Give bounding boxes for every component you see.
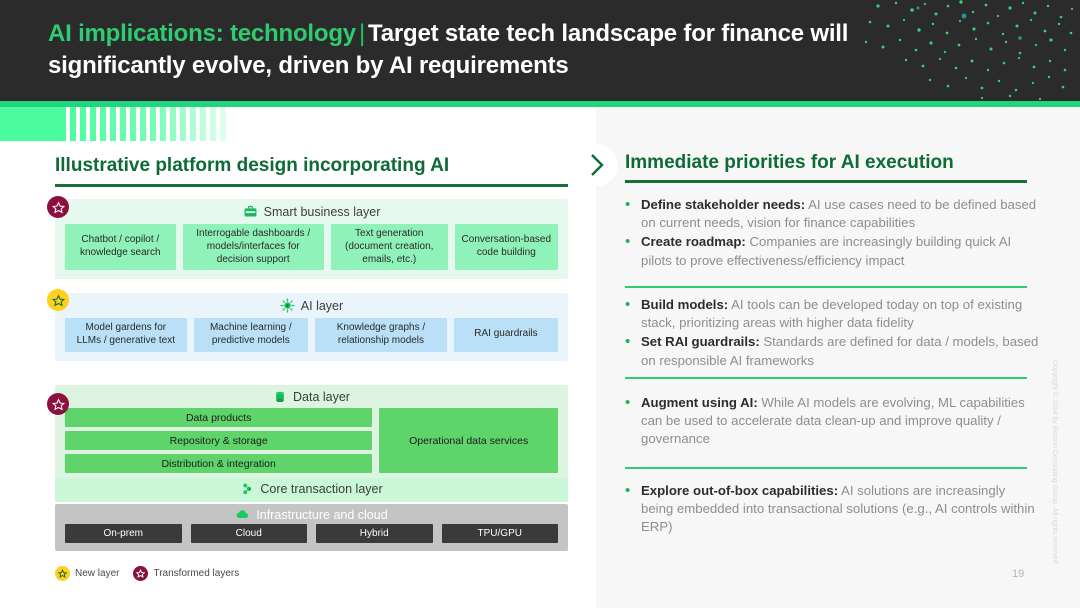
bullet-text: Augment using AI: While AI models are ev… bbox=[641, 394, 1040, 449]
badge-new-ai-layer bbox=[47, 289, 69, 311]
cell-model-gardens[interactable]: Model gardens forLLMs / generative text bbox=[65, 318, 187, 352]
bullet-dot-icon: • bbox=[625, 233, 632, 269]
page-title: AI implications: technology|Target state… bbox=[48, 18, 1008, 81]
bullet-text: Define stakeholder needs: AI use cases n… bbox=[641, 196, 1040, 232]
layer-title-text: Core transaction layer bbox=[260, 482, 382, 496]
cell-knowledge-graphs[interactable]: Knowledge graphs /relationship models bbox=[315, 318, 447, 352]
bullet-dot-icon: • bbox=[625, 196, 632, 232]
legend-label-transformed-layers: Transformed layers bbox=[153, 568, 239, 579]
data-rows-group: Data products Repository & storage Distr… bbox=[65, 408, 372, 473]
bullet-text: Explore out-of-box capabilities: AI solu… bbox=[641, 482, 1040, 537]
left-panel: Illustrative platform design incorporati… bbox=[0, 141, 596, 608]
chevron-circle bbox=[576, 144, 618, 186]
bullet-dot-icon: • bbox=[625, 394, 632, 449]
left-heading-rule bbox=[55, 184, 568, 187]
title-divider: | bbox=[356, 20, 368, 47]
page-number: 19 bbox=[1012, 568, 1024, 580]
title-line-2: significantly evolve, driven by AI requi… bbox=[48, 52, 569, 79]
infra-cells-group: On-prem Cloud Hybrid TPU/GPU bbox=[55, 522, 568, 551]
bullet-group-3: • Augment using AI: While AI models are … bbox=[625, 394, 1040, 450]
legend: New layer Transformed layers bbox=[55, 566, 239, 581]
slide-header: AI implications: technology|Target state… bbox=[0, 0, 1080, 101]
layer-title-text: AI layer bbox=[301, 299, 343, 313]
infra-cell-on-prem[interactable]: On-prem bbox=[65, 524, 182, 543]
badge-transformed-data-layer bbox=[47, 393, 69, 415]
bullet-define-stakeholder-needs: • Define stakeholder needs: AI use cases… bbox=[625, 196, 1040, 232]
cloud-icon bbox=[235, 507, 250, 522]
network-nodes-icon bbox=[240, 482, 254, 496]
bullet-text: Set RAI guardrails: Standards are define… bbox=[641, 333, 1040, 369]
bullet-text: Build models: AI tools can be developed … bbox=[641, 296, 1040, 332]
left-panel-heading: Illustrative platform design incorporati… bbox=[55, 155, 449, 177]
bullet-augment-using-ai: • Augment using AI: While AI models are … bbox=[625, 394, 1040, 449]
bullet-group-1: • Define stakeholder needs: AI use cases… bbox=[625, 196, 1040, 271]
bullet-text: Create roadmap: Companies are increasing… bbox=[641, 233, 1040, 269]
bullet-explore-out-of-box: • Explore out-of-box capabilities: AI so… bbox=[625, 482, 1040, 537]
bullet-set-rai-guardrails: • Set RAI guardrails: Standards are defi… bbox=[625, 333, 1040, 369]
infra-cell-tpu-gpu[interactable]: TPU/GPU bbox=[442, 524, 559, 543]
copyright-notice: Copyright © 2024 by Boston Consulting Gr… bbox=[1051, 360, 1058, 564]
layer-title-text: Data layer bbox=[293, 390, 350, 404]
layer-cells-smart-business: Chatbot / copilot /knowledge search Inte… bbox=[55, 219, 568, 279]
title-line-1: Target state tech landscape for finance … bbox=[368, 20, 848, 47]
layer-core-transaction: Core transaction layer bbox=[55, 478, 568, 502]
star-icon bbox=[52, 201, 65, 214]
bullet-dot-icon: • bbox=[625, 333, 632, 369]
star-icon bbox=[55, 566, 70, 581]
badge-transformed-smart-business bbox=[47, 196, 69, 218]
database-icon bbox=[273, 390, 287, 404]
cell-text-generation[interactable]: Text generation(document creation,emails… bbox=[331, 224, 448, 270]
cell-conversation-code[interactable]: Conversation-basedcode building bbox=[455, 224, 558, 270]
star-icon bbox=[52, 398, 65, 411]
layer-infrastructure-cloud: Infrastructure and cloud On-prem Cloud H… bbox=[55, 504, 568, 551]
layer-smart-business: Smart business layer Chatbot / copilot /… bbox=[55, 199, 568, 279]
title-eyebrow: AI implications: technology bbox=[48, 20, 356, 47]
group-rule-1 bbox=[625, 286, 1027, 288]
cell-chatbot-copilot[interactable]: Chatbot / copilot /knowledge search bbox=[65, 224, 176, 270]
group-rule-3 bbox=[625, 467, 1027, 469]
layer-title-text: Infrastructure and cloud bbox=[256, 508, 387, 522]
legend-item-new-layer: New layer bbox=[55, 566, 119, 581]
layer-cells-ai: Model gardens forLLMs / generative text … bbox=[55, 313, 568, 361]
data-row-distribution[interactable]: Distribution & integration bbox=[65, 454, 372, 473]
decorative-stripes-fade bbox=[64, 107, 228, 141]
legend-label-new-layer: New layer bbox=[75, 568, 119, 579]
bullet-dot-icon: • bbox=[625, 482, 632, 537]
cell-machine-learning[interactable]: Machine learning /predictive models bbox=[194, 318, 308, 352]
cell-operational-data-services[interactable]: Operational data services bbox=[379, 408, 558, 473]
right-heading-rule bbox=[625, 180, 1027, 183]
layer-data: Data layer Data products Repository & st… bbox=[55, 385, 568, 482]
layer-title-data: Data layer bbox=[55, 385, 568, 404]
chevron-right-icon bbox=[587, 152, 607, 178]
layer-title-text: Smart business layer bbox=[264, 205, 381, 219]
star-icon bbox=[133, 566, 148, 581]
cell-interrogable-dashboards[interactable]: Interrogable dashboards /models/interfac… bbox=[183, 224, 324, 270]
bullet-group-2: • Build models: AI tools can be develope… bbox=[625, 296, 1040, 371]
slide-root: AI implications: technology|Target state… bbox=[0, 0, 1080, 608]
star-icon bbox=[52, 294, 65, 307]
bullet-build-models: • Build models: AI tools can be develope… bbox=[625, 296, 1040, 332]
group-rule-2 bbox=[625, 377, 1027, 379]
ai-chip-icon bbox=[280, 298, 295, 313]
layer-title-infrastructure: Infrastructure and cloud bbox=[55, 504, 568, 522]
infra-cell-cloud[interactable]: Cloud bbox=[191, 524, 308, 543]
bullet-create-roadmap: • Create roadmap: Companies are increasi… bbox=[625, 233, 1040, 269]
layer-title-core-transaction: Core transaction layer bbox=[55, 478, 568, 496]
layer-cells-data: Data products Repository & storage Distr… bbox=[55, 404, 568, 482]
layer-title-smart-business: Smart business layer bbox=[55, 199, 568, 219]
cell-rai-guardrails[interactable]: RAI guardrails bbox=[454, 318, 558, 352]
layer-title-ai: AI layer bbox=[55, 293, 568, 313]
bullet-group-4: • Explore out-of-box capabilities: AI so… bbox=[625, 482, 1040, 538]
data-row-products[interactable]: Data products bbox=[65, 408, 372, 427]
bullet-dot-icon: • bbox=[625, 296, 632, 332]
data-row-repository[interactable]: Repository & storage bbox=[65, 431, 372, 450]
briefcase-icon bbox=[243, 204, 258, 219]
right-panel-heading: Immediate priorities for AI execution bbox=[625, 152, 954, 174]
layer-ai: AI layer Model gardens forLLMs / generat… bbox=[55, 293, 568, 361]
infra-cell-hybrid[interactable]: Hybrid bbox=[316, 524, 433, 543]
legend-item-transformed-layers: Transformed layers bbox=[133, 566, 239, 581]
